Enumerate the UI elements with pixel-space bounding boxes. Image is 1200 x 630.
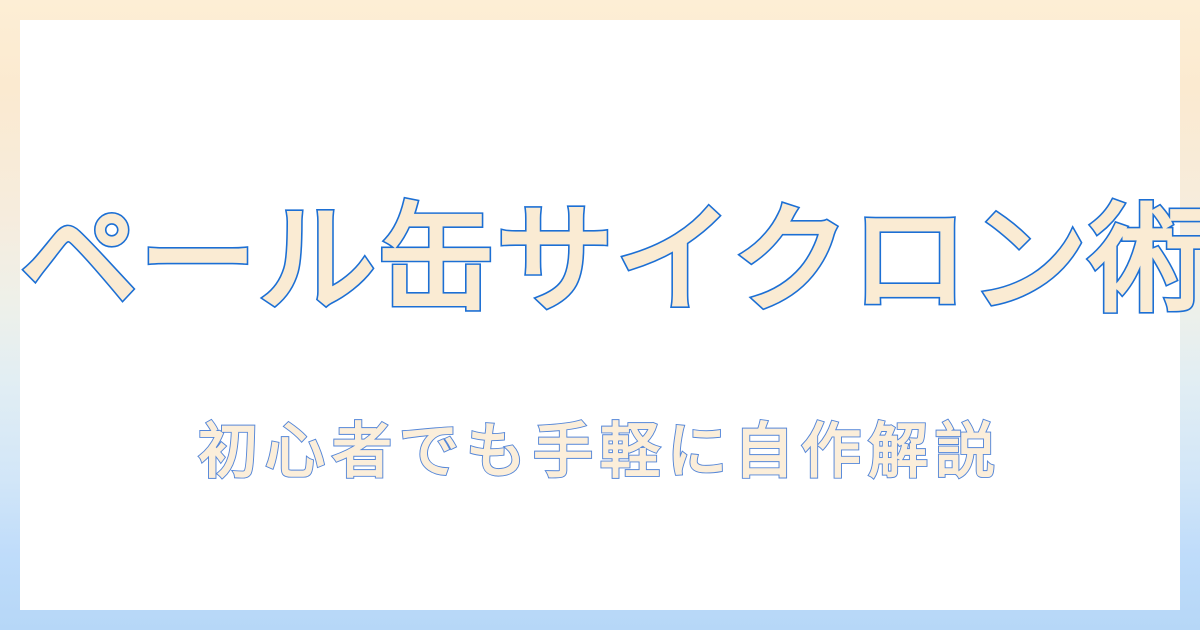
page-title: ペール缶サイクロン術 — [20, 180, 1180, 340]
content-stage: ペール缶サイクロン術 初心者でも手軽に自作解説 — [20, 20, 1180, 610]
subtitle-text: 初心者でも手軽に自作解説 — [198, 410, 1002, 494]
page-subtitle: 初心者でも手軽に自作解説 — [20, 410, 1180, 494]
thumbnail-card: ペール缶サイクロン術 初心者でも手軽に自作解説 — [0, 0, 1200, 630]
title-text: ペール缶サイクロン術 — [20, 180, 1200, 340]
